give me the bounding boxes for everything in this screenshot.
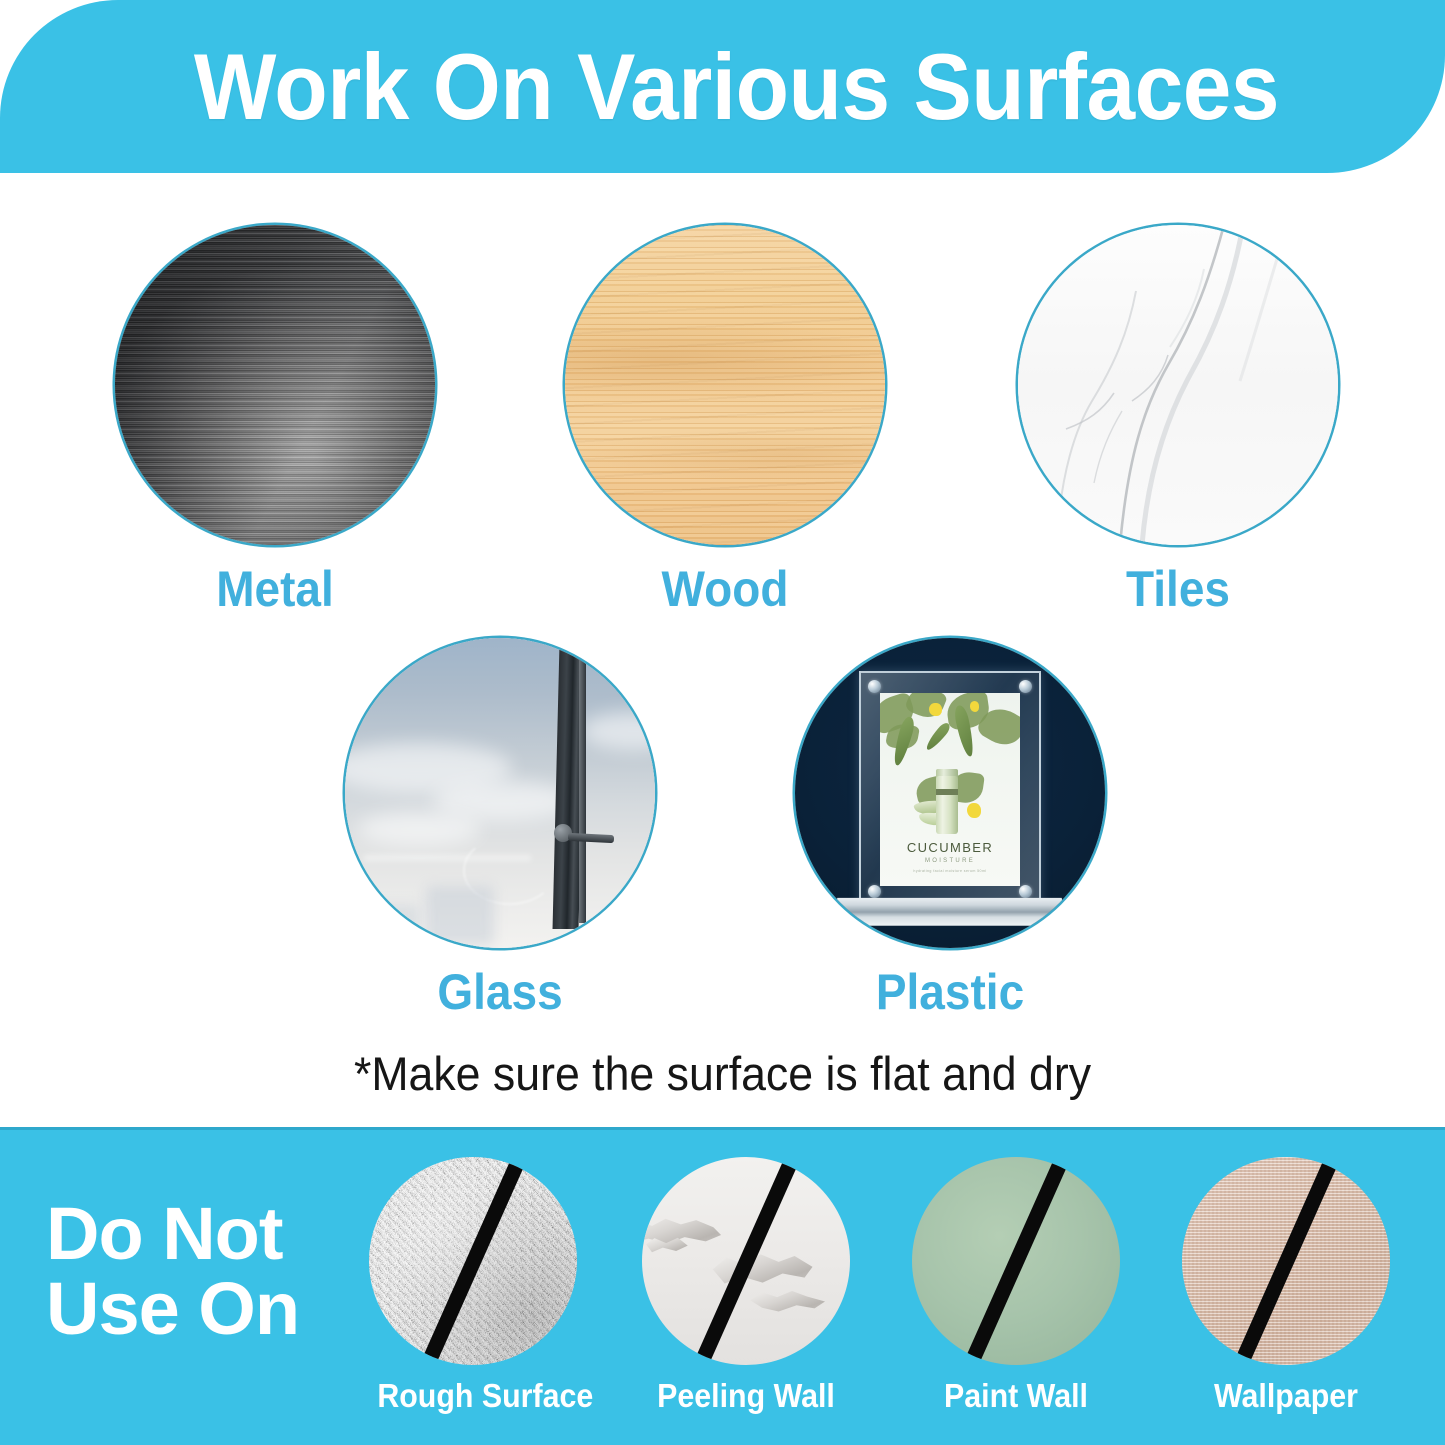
- glass-circle: [345, 638, 655, 948]
- poster-subtitle: MOISTURE: [880, 858, 1020, 864]
- flower-shape: [970, 701, 980, 712]
- acrylic-panel: CUCUMBER MOISTURE hydrating facial moist…: [859, 671, 1042, 907]
- surface-label-metal: Metal: [128, 560, 422, 618]
- acrylic-sign-holder-photo: CUCUMBER MOISTURE hydrating facial moist…: [795, 638, 1105, 948]
- page-title: Work On Various Surfaces: [51, 0, 1395, 173]
- product-bottle-band: [936, 789, 958, 795]
- do-not-use-item-wallpaper: Wallpaper: [1182, 1157, 1390, 1365]
- surface-footnote: *Make sure the surface is flat and dry: [36, 1046, 1409, 1101]
- do-not-use-label-paint-wall: Paint Wall: [920, 1377, 1111, 1415]
- poster-artwork: CUCUMBER MOISTURE hydrating facial moist…: [880, 693, 1020, 885]
- glass-reflection-blob: [426, 886, 494, 945]
- marble-veins-icon: [1018, 225, 1338, 545]
- do-not-use-item-rough-surface: Rough Surface: [369, 1157, 577, 1365]
- paint-flake-shape: [750, 1286, 825, 1317]
- surface-item-tiles: Tiles: [1018, 225, 1338, 545]
- window-glass-photo: [345, 638, 655, 948]
- do-not-use-title: Do Not Use On: [46, 1196, 299, 1347]
- do-not-use-panel: Do Not Use On Rough Surface Peeling Wall: [0, 1127, 1445, 1445]
- infographic-page: Work On Various Surfaces Metal Wood: [0, 0, 1445, 1445]
- do-not-use-item-peeling-wall: Peeling Wall: [642, 1157, 850, 1365]
- do-not-use-label-rough-surface: Rough Surface: [377, 1377, 568, 1415]
- wallpaper-circle: [1182, 1157, 1390, 1365]
- plastic-circle: CUCUMBER MOISTURE hydrating facial moist…: [795, 638, 1105, 948]
- surface-label-tiles: Tiles: [1031, 560, 1325, 618]
- wood-circle: [565, 225, 885, 545]
- surface-label-wood: Wood: [578, 560, 872, 618]
- surface-label-glass: Glass: [357, 963, 642, 1021]
- poster-fineprint: hydrating facial moisture serum 50ml: [880, 869, 1020, 873]
- flower-shape: [967, 803, 981, 818]
- poster-title: CUCUMBER: [880, 840, 1020, 855]
- tiles-circle: [1018, 225, 1338, 545]
- acrylic-screw: [1019, 680, 1032, 693]
- rough-surface-circle: [369, 1157, 577, 1365]
- paint-wall-circle: [912, 1157, 1120, 1365]
- metal-circle: [115, 225, 435, 545]
- surface-label-plastic: Plastic: [807, 963, 1092, 1021]
- surface-item-wood: Wood: [565, 225, 885, 545]
- glass-reflection-streak: [364, 855, 531, 861]
- do-not-use-item-paint-wall: Paint Wall: [912, 1157, 1120, 1365]
- cloud-shape: [357, 812, 481, 846]
- flower-shape: [929, 703, 942, 716]
- product-bottle: [936, 776, 958, 834]
- do-not-use-label-peeling-wall: Peeling Wall: [650, 1377, 841, 1415]
- acrylic-screw: [868, 885, 881, 898]
- acrylic-screw: [868, 680, 881, 693]
- wood-texture: [565, 225, 885, 545]
- cucumber-shape: [924, 721, 952, 752]
- do-not-use-label-wallpaper: Wallpaper: [1190, 1377, 1381, 1415]
- marble-tile-texture: [1018, 225, 1338, 545]
- acrylic-screw: [1019, 885, 1032, 898]
- surface-item-glass: Glass: [345, 638, 655, 948]
- header-banner: Work On Various Surfaces: [0, 0, 1445, 173]
- acrylic-stand-base: [833, 898, 1067, 926]
- metal-texture: [115, 225, 435, 545]
- glass-reflection-blob: [370, 905, 420, 933]
- peeling-wall-circle: [642, 1157, 850, 1365]
- window-mullion-edge: [579, 650, 586, 923]
- surface-item-metal: Metal: [115, 225, 435, 545]
- surface-item-plastic: CUCUMBER MOISTURE hydrating facial moist…: [795, 638, 1105, 948]
